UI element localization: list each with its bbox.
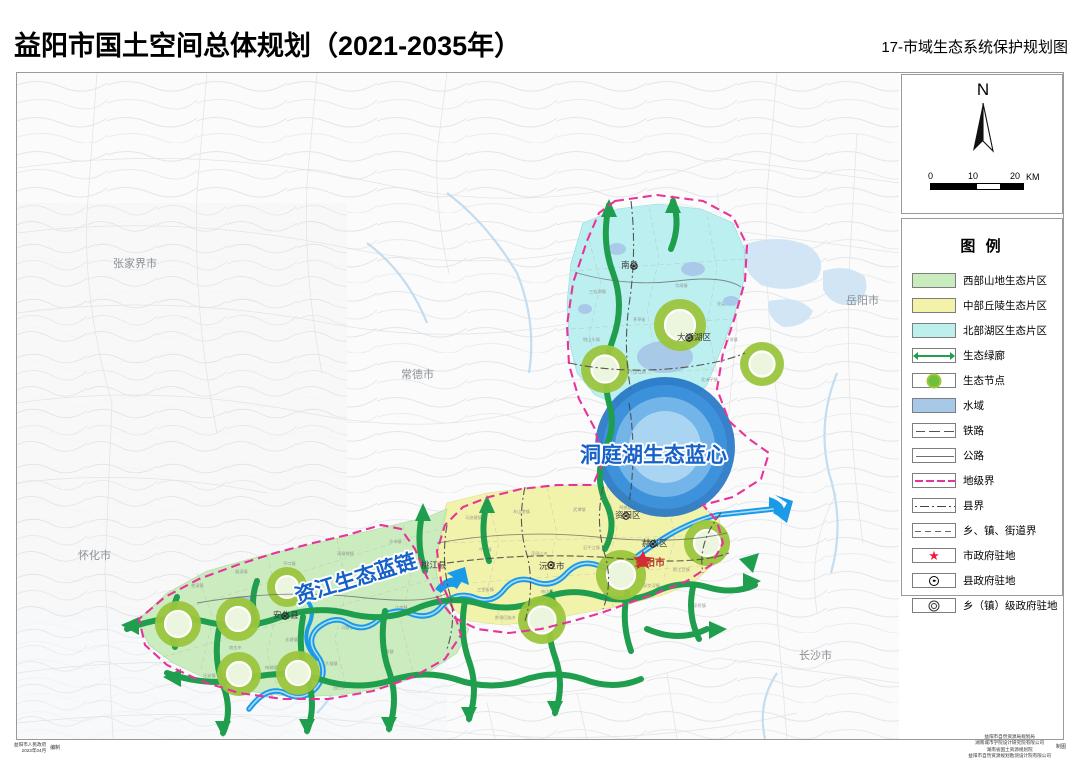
eco-node bbox=[217, 652, 261, 696]
road-line-icon bbox=[912, 448, 956, 463]
svg-text:武潭镇: 武潭镇 bbox=[573, 506, 586, 513]
svg-text:大福镇: 大福镇 bbox=[325, 660, 338, 667]
legend-label: 乡、镇、街道界 bbox=[963, 523, 1037, 538]
svg-text:明山头镇: 明山头镇 bbox=[583, 336, 600, 343]
svg-text:华阁镇: 华阁镇 bbox=[675, 282, 688, 289]
swatch-water-icon bbox=[912, 398, 956, 413]
township-boundary-icon bbox=[912, 523, 956, 538]
map-canvas[interactable]: 三仙湖镇茅草街 华阁镇金盆镇 千山红镇北洲子镇 明山头镇河坝镇 马迹塘镇灰山港镇… bbox=[17, 73, 899, 739]
township-government-circle-icon bbox=[912, 598, 956, 613]
legend-item-west-mountain[interactable]: 西部山地生态片区 bbox=[912, 268, 1062, 293]
legend-item-north-lake[interactable]: 北部湖区生态片区 bbox=[912, 318, 1062, 343]
legend-item-eco-corridor[interactable]: 生态绿廊 bbox=[912, 343, 1062, 368]
county-boundary-icon bbox=[912, 498, 956, 513]
svg-text:北洲子镇: 北洲子镇 bbox=[701, 376, 718, 383]
svg-text:千山红镇: 千山红镇 bbox=[629, 368, 646, 375]
map-frame: 三仙湖镇茅草街 华阁镇金盆镇 千山红镇北洲子镇 明山头镇河坝镇 马迹塘镇灰山港镇… bbox=[16, 72, 1064, 740]
legend-label: 铁路 bbox=[963, 423, 984, 438]
railway-line-icon bbox=[912, 423, 956, 438]
scale-tick-2: 20 bbox=[1010, 171, 1020, 181]
city-government-star-icon: ★ bbox=[912, 548, 956, 563]
legend-item-county-government[interactable]: 县政府驻地 bbox=[912, 568, 1062, 593]
legend-item-county-boundary[interactable]: 县界 bbox=[912, 493, 1062, 518]
legend-label: 公路 bbox=[963, 448, 984, 463]
credit-left-line: 2023年04月 bbox=[22, 748, 47, 753]
legend-label: 中部丘陵生态片区 bbox=[963, 298, 1047, 313]
legend-label: 县界 bbox=[963, 498, 984, 513]
eco-node bbox=[216, 597, 260, 641]
legend-item-city-government[interactable]: ★ 市政府驻地 bbox=[912, 543, 1062, 568]
svg-text:乐安镇: 乐安镇 bbox=[203, 672, 216, 679]
swatch-west-mountain-icon bbox=[912, 273, 956, 288]
swatch-mid-hill-icon bbox=[912, 298, 956, 313]
credit-right-line: 湖南省国土资源规划院 bbox=[987, 747, 1033, 752]
legend-item-township-government[interactable]: 乡（镇）级政府驻地 bbox=[912, 593, 1062, 618]
legend-label: 市政府驻地 bbox=[963, 548, 1016, 563]
legend-label: 西部山地生态片区 bbox=[963, 273, 1047, 288]
map-graphics: 三仙湖镇茅草街 华阁镇金盆镇 千山红镇北洲子镇 明山头镇河坝镇 马迹塘镇灰山港镇… bbox=[17, 73, 899, 739]
eco-node-ring-icon bbox=[912, 373, 956, 388]
svg-text:清塘铺镇: 清塘铺镇 bbox=[337, 550, 354, 557]
legend-label: 地级界 bbox=[963, 473, 995, 488]
scale-unit-label: KM bbox=[1026, 172, 1040, 182]
svg-text:烟溪镇: 烟溪镇 bbox=[235, 568, 248, 575]
county-government-dot-icon bbox=[912, 573, 956, 588]
legend-panel: 图 例 西部山地生态片区 中部丘陵生态片区 北部湖区生态片区 生态绿廊 生态节点 bbox=[901, 218, 1063, 596]
svg-text:长塘镇: 长塘镇 bbox=[285, 636, 298, 643]
svg-text:石牛江镇: 石牛江镇 bbox=[583, 544, 600, 551]
legend-label: 北部湖区生态片区 bbox=[963, 323, 1047, 338]
credit-left-side: 编制 bbox=[50, 745, 60, 751]
legend-title: 图 例 bbox=[902, 235, 1062, 256]
credit-right-line: 湖南城市学院设计研究院有限公司 bbox=[975, 740, 1044, 745]
credit-right: 益阳市自然资源局规划局 湖南城市学院设计研究院有限公司 湖南省国土资源规划院 益… bbox=[968, 734, 1066, 760]
legend-item-mid-hill[interactable]: 中部丘陵生态片区 bbox=[912, 293, 1062, 318]
svg-text:冷市镇: 冷市镇 bbox=[389, 538, 402, 545]
credit-left-line: 益阳市人民政府 bbox=[14, 742, 46, 747]
dongting-blue-heart-disc bbox=[595, 377, 735, 517]
eco-node bbox=[276, 651, 320, 695]
credit-right-line: 益阳市自然资源规划勘测设计院有限公司 bbox=[968, 753, 1051, 758]
svg-text:三仙湖镇: 三仙湖镇 bbox=[589, 288, 606, 295]
legend-item-prefecture-boundary[interactable]: 地级界 bbox=[912, 468, 1062, 493]
credit-right-side: 制图 bbox=[1056, 744, 1066, 750]
scale-tick-1: 10 bbox=[968, 171, 978, 181]
north-arrow-scale-panel: N 0 10 20 KM bbox=[901, 74, 1063, 214]
eco-node bbox=[155, 601, 201, 647]
eco-node bbox=[654, 299, 706, 351]
legend-item-water[interactable]: 水域 bbox=[912, 393, 1062, 418]
legend-label: 生态绿廊 bbox=[963, 348, 1005, 363]
svg-text:三堂街镇: 三堂街镇 bbox=[477, 586, 494, 593]
credit-right-line: 益阳市自然资源局规划局 bbox=[984, 734, 1035, 739]
legend-label: 生态节点 bbox=[963, 373, 1005, 388]
north-arrow: N bbox=[902, 81, 1064, 155]
scale-bar-graphic bbox=[930, 183, 1024, 190]
green-corridor-arrow-icon bbox=[912, 348, 956, 363]
swatch-north-lake-icon bbox=[912, 323, 956, 338]
svg-text:梅城镇: 梅城镇 bbox=[265, 664, 278, 671]
page-header: 益阳市国土空间总体规划（2021-2035年） 17-市域生态系统保护规划图 bbox=[0, 0, 1080, 72]
scale-bar: 0 10 20 KM bbox=[930, 171, 1040, 190]
legend-item-township-boundary[interactable]: 乡、镇、街道界 bbox=[912, 518, 1062, 543]
page-title: 益阳市国土空间总体规划（2021-2035年） bbox=[14, 24, 521, 63]
legend-item-road[interactable]: 公路 bbox=[912, 443, 1062, 468]
legend-list: 西部山地生态片区 中部丘陵生态片区 北部湖区生态片区 生态绿廊 生态节点 水域 bbox=[902, 268, 1062, 618]
legend-item-eco-node[interactable]: 生态节点 bbox=[912, 368, 1062, 393]
north-letter: N bbox=[902, 81, 1064, 99]
legend-label: 乡（镇）级政府驻地 bbox=[963, 598, 1058, 613]
svg-text:平口镇: 平口镇 bbox=[283, 560, 296, 567]
legend-item-railway[interactable]: 铁路 bbox=[912, 418, 1062, 443]
legend-label: 县政府驻地 bbox=[963, 573, 1016, 588]
svg-text:欧江岔镇: 欧江岔镇 bbox=[673, 566, 690, 573]
eco-node bbox=[740, 342, 784, 386]
credit-left: 益阳市人民政府 2023年04月 编制 bbox=[14, 742, 60, 754]
prefecture-boundary-icon bbox=[912, 473, 956, 488]
map-sheet-subtitle: 17-市域生态系统保护规划图 bbox=[881, 36, 1068, 57]
svg-text:鲊埠回族乡: 鲊埠回族乡 bbox=[495, 614, 516, 621]
legend-label: 水域 bbox=[963, 398, 984, 413]
scale-tick-0: 0 bbox=[928, 171, 933, 181]
svg-text:南金乡: 南金乡 bbox=[229, 644, 242, 650]
north-arrow-icon bbox=[966, 101, 1000, 155]
svg-text:马迹塘镇: 马迹塘镇 bbox=[465, 514, 482, 521]
svg-text:茅草街: 茅草街 bbox=[633, 316, 646, 323]
eco-node bbox=[267, 567, 307, 607]
